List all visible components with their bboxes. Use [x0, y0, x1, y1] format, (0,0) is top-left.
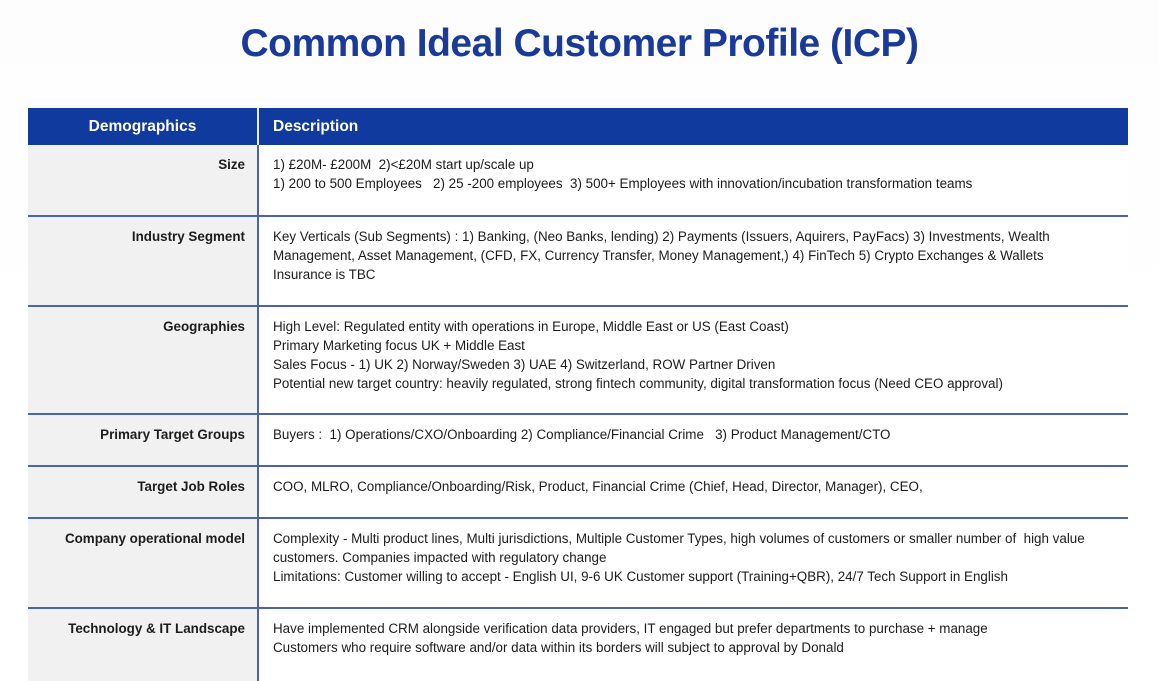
table-row: Industry Segment Key Verticals (Sub Segm… — [28, 216, 1128, 306]
description-line: Primary Marketing focus UK + Middle East — [273, 336, 1120, 355]
row-description-size: 1) £20M- £200M 2)<£20M start up/scale up… — [258, 145, 1128, 216]
row-label-size: Size — [28, 145, 258, 216]
row-description-technology-it-landscape: Have implemented CRM alongside verificat… — [258, 608, 1128, 681]
description-line: High Level: Regulated entity with operat… — [273, 317, 1120, 336]
slide-canvas: Common Ideal Customer Profile (ICP) Demo… — [0, 0, 1159, 570]
description-line: 1) 200 to 500 Employees 2) 25 -200 emplo… — [273, 174, 1120, 193]
table-row: Target Job Roles COO, MLRO, Compliance/O… — [28, 466, 1128, 518]
column-header-demographics: Demographics — [28, 108, 258, 145]
row-label-industry-segment: Industry Segment — [28, 216, 258, 306]
row-label-primary-target-groups: Primary Target Groups — [28, 414, 258, 466]
table-row: Geographies High Level: Regulated entity… — [28, 306, 1128, 414]
description-line: Insurance is TBC — [273, 265, 1120, 284]
description-line: Buyers : 1) Operations/CXO/Onboarding 2)… — [273, 425, 1120, 444]
description-line: 1) £20M- £200M 2)<£20M start up/scale up — [273, 155, 1120, 174]
description-line: Sales Focus - 1) UK 2) Norway/Sweden 3) … — [273, 355, 1120, 374]
icp-table: Demographics Description Size 1) £20M- £… — [28, 108, 1128, 681]
row-label-technology-it-landscape: Technology & IT Landscape — [28, 608, 258, 681]
table-body: Size 1) £20M- £200M 2)<£20M start up/sca… — [28, 145, 1128, 681]
row-label-geographies: Geographies — [28, 306, 258, 414]
row-description-geographies: High Level: Regulated entity with operat… — [258, 306, 1128, 414]
row-label-company-operational-model: Company operational model — [28, 518, 258, 608]
description-line: Have implemented CRM alongside verificat… — [273, 619, 1120, 638]
row-description-industry-segment: Key Verticals (Sub Segments) : 1) Bankin… — [258, 216, 1128, 306]
description-line: Complexity - Multi product lines, Multi … — [273, 529, 1120, 567]
row-label-target-job-roles: Target Job Roles — [28, 466, 258, 518]
table-row: Size 1) £20M- £200M 2)<£20M start up/sca… — [28, 145, 1128, 216]
table-row: Primary Target Groups Buyers : 1) Operat… — [28, 414, 1128, 466]
table-header: Demographics Description — [28, 108, 1128, 145]
table-header-row: Demographics Description — [28, 108, 1128, 145]
row-description-primary-target-groups: Buyers : 1) Operations/CXO/Onboarding 2)… — [258, 414, 1128, 466]
description-line: COO, MLRO, Compliance/Onboarding/Risk, P… — [273, 477, 1120, 496]
row-description-company-operational-model: Complexity - Multi product lines, Multi … — [258, 518, 1128, 608]
table-row: Company operational model Complexity - M… — [28, 518, 1128, 608]
row-description-target-job-roles: COO, MLRO, Compliance/Onboarding/Risk, P… — [258, 466, 1128, 518]
description-line: Potential new target country: heavily re… — [273, 374, 1120, 393]
column-header-description: Description — [258, 108, 1128, 145]
description-line: Key Verticals (Sub Segments) : 1) Bankin… — [273, 227, 1120, 265]
description-line: Customers who require software and/or da… — [273, 638, 1120, 657]
page-title: Common Ideal Customer Profile (ICP) — [0, 22, 1159, 66]
table-row: Technology & IT Landscape Have implement… — [28, 608, 1128, 681]
